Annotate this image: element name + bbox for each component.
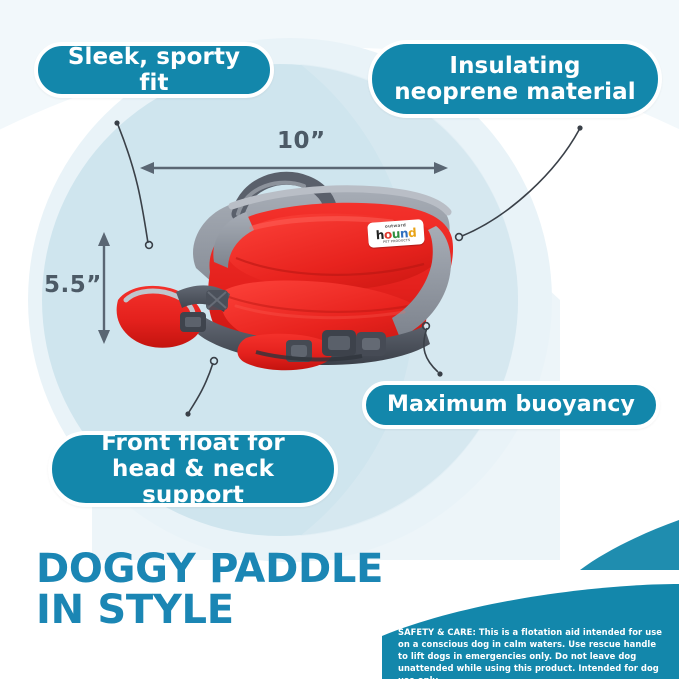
callout-front-float[interactable]: Front float for head & neck support: [48, 431, 338, 507]
leader-line-frontfloat: [185, 358, 217, 417]
callout-insulating-line2: neoprene material: [394, 79, 636, 105]
callout-insulating-label: Insulating neoprene material: [394, 53, 636, 105]
safety-heading: SAFETY & CARE:: [398, 627, 476, 637]
callout-insulating-neoprene[interactable]: Insulating neoprene material: [368, 40, 662, 118]
callout-sleek-sporty-fit[interactable]: Sleek, sporty fit: [34, 42, 274, 98]
callout-sleek-label: Sleek, sporty fit: [56, 44, 252, 96]
leader-line-buoyancy: [423, 323, 443, 377]
callout-maximum-buoyancy[interactable]: Maximum buoyancy: [362, 381, 660, 429]
callout-frontfloat-line1: Front float for: [70, 430, 316, 456]
callout-insulating-line1: Insulating: [394, 53, 636, 79]
callout-buoyancy-label: Maximum buoyancy: [387, 392, 635, 417]
headline-line-2: IN STYLE: [36, 590, 383, 631]
height-dimension-label: 5.5”: [44, 272, 102, 298]
infographic-canvas: outward hound PET PRODUCTS: [0, 0, 679, 679]
callout-frontfloat-label: Front float for head & neck support: [70, 430, 316, 509]
width-dimension-label: 10”: [277, 128, 326, 154]
leader-line-insulating: [456, 125, 583, 240]
safety-care-text: SAFETY & CARE: This is a flotation aid i…: [398, 627, 666, 687]
leader-line-sleek: [114, 120, 152, 248]
callout-frontfloat-line2: head & neck support: [70, 456, 316, 508]
headline-line-1: DOGGY PADDLE: [36, 549, 383, 590]
width-dimension-arrow: [140, 162, 448, 174]
page-headline: DOGGY PADDLE IN STYLE: [36, 549, 383, 631]
